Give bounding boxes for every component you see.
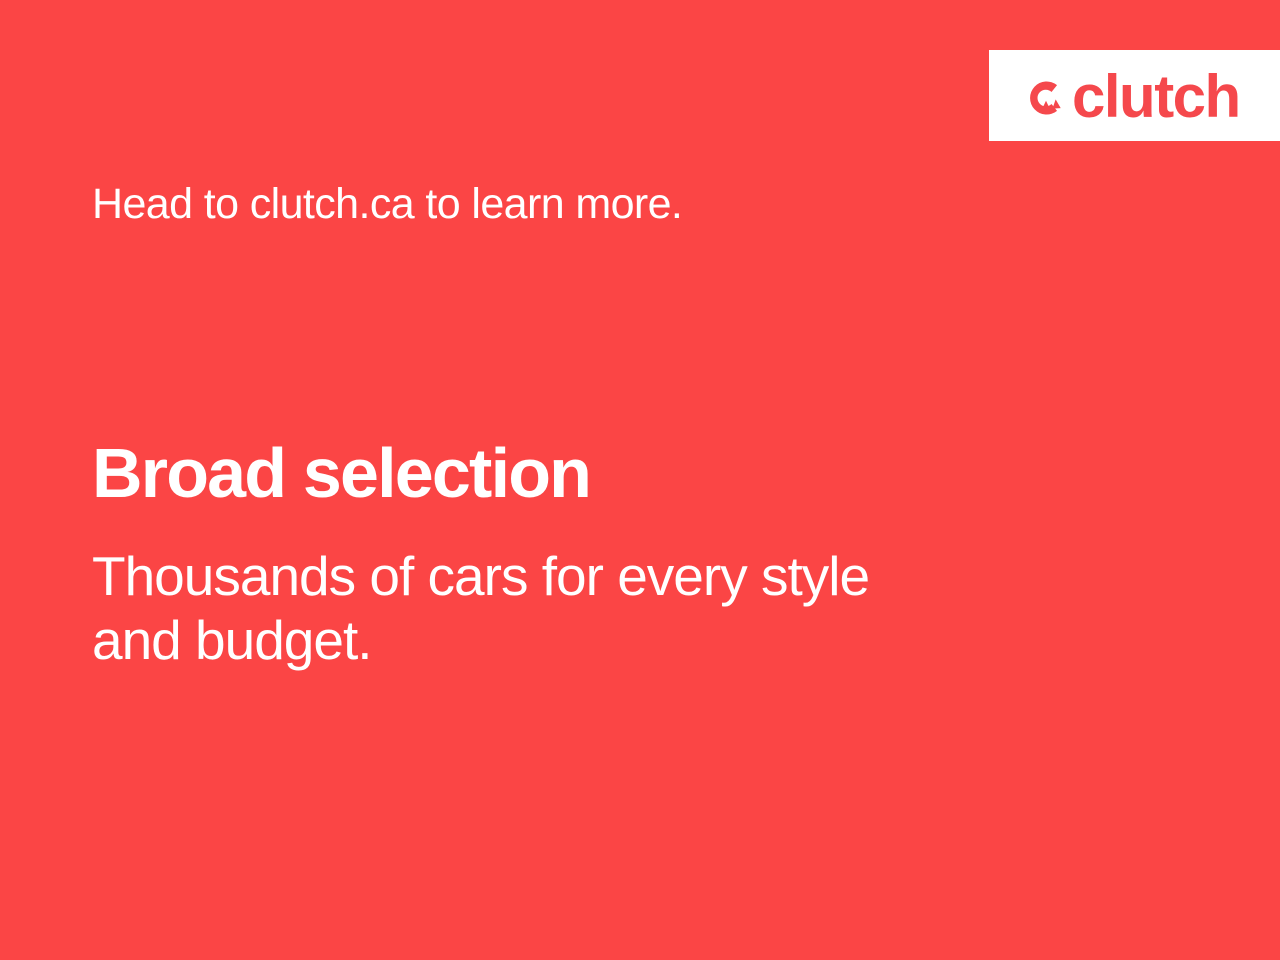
eyebrow-text: Head to clutch.ca to learn more. [92, 180, 682, 229]
marketing-slide: clutch Head to clutch.ca to learn more. … [0, 0, 1280, 960]
subheadline: Thousands of cars for every style and bu… [92, 544, 1042, 672]
subheadline-line-1: Thousands of cars for every style [92, 544, 1042, 608]
clutch-logo-plate[interactable]: clutch [989, 50, 1280, 141]
clutch-wordmark: clutch [1072, 67, 1240, 127]
subheadline-line-2: and budget. [92, 608, 1042, 672]
clutch-disc-icon [1023, 75, 1069, 121]
clutch-logo-lockup: clutch [1023, 50, 1240, 141]
page-title: Broad selection [92, 437, 590, 511]
